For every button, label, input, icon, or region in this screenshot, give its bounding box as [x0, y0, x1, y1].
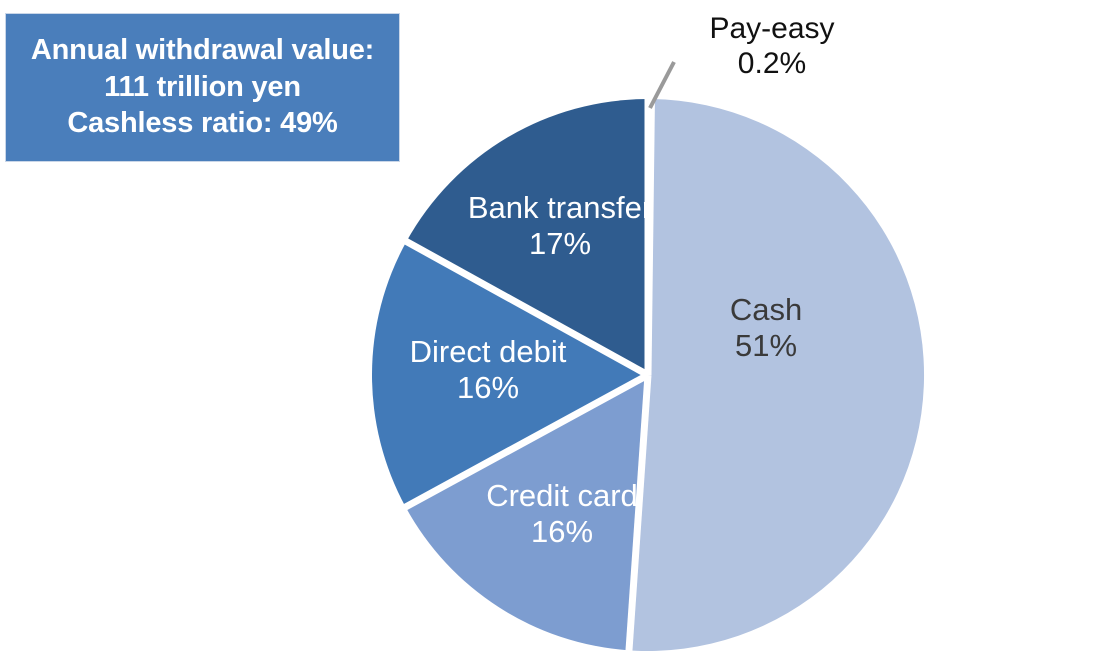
summary-line-2: 111 trillion yen: [104, 70, 301, 106]
summary-line-3: Cashless ratio: 49%: [67, 106, 337, 142]
summary-line-1: Annual withdrawal value:: [31, 33, 374, 69]
summary-callout-box: Annual withdrawal value: 111 trillion ye…: [5, 13, 400, 162]
pie-separator-1: [648, 96, 652, 375]
